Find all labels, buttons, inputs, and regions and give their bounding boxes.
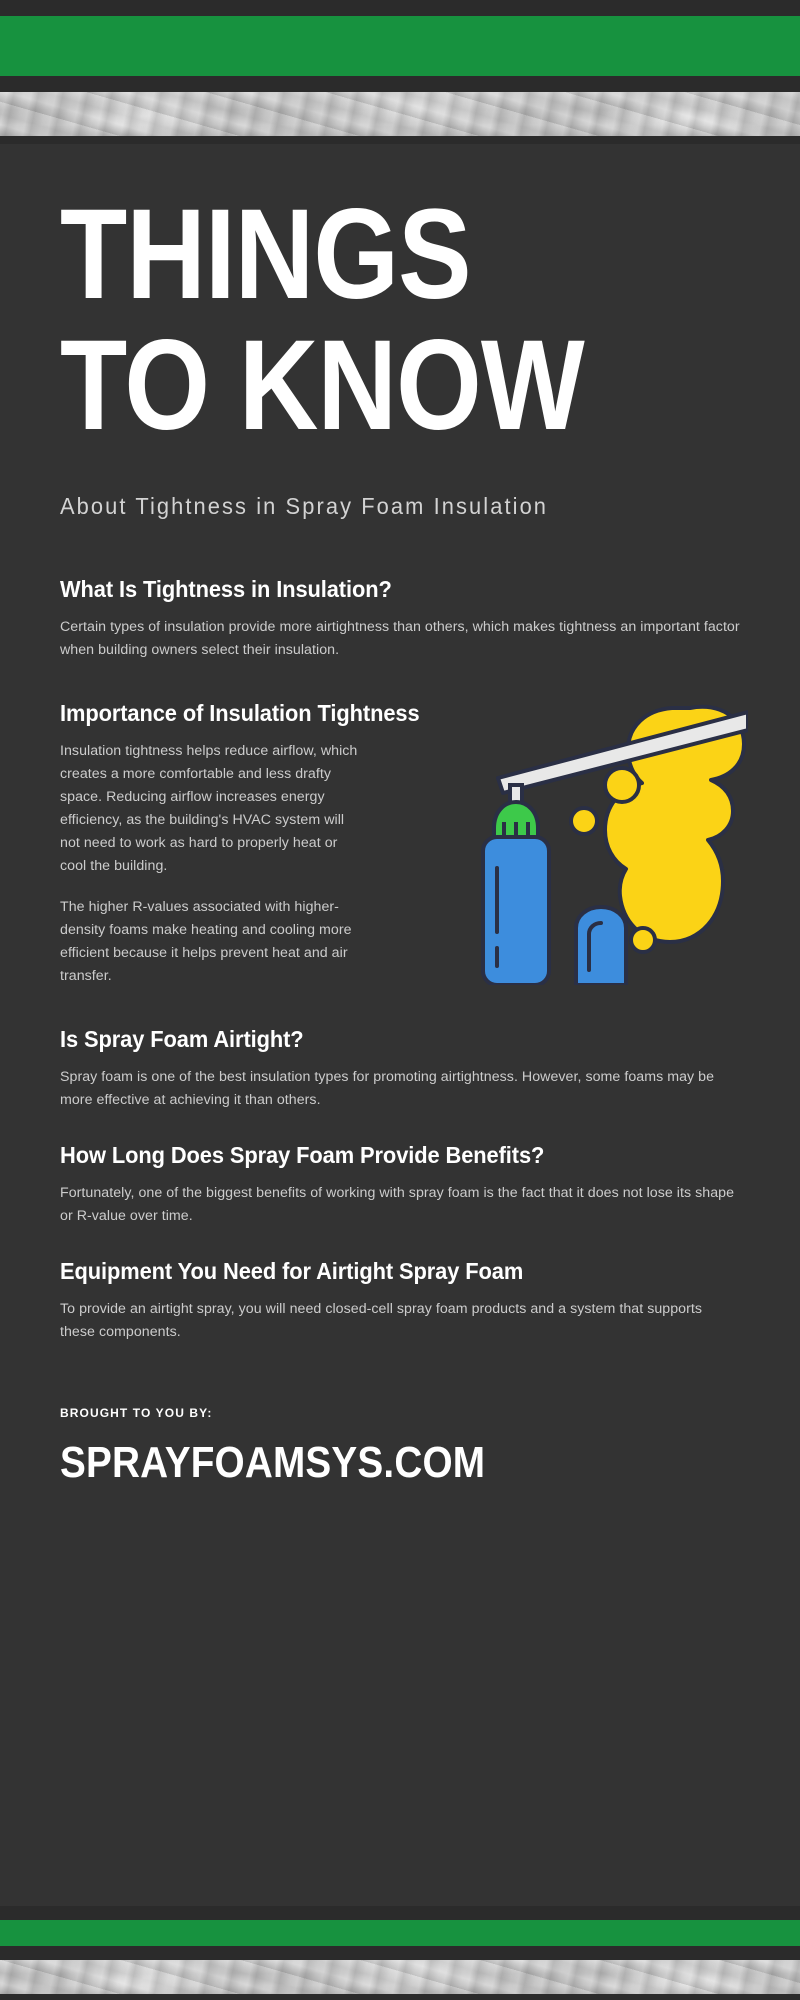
top-dark-strip-1 bbox=[0, 0, 800, 16]
foam-large-blob bbox=[605, 707, 744, 942]
section-how-long-benefits: How Long Does Spray Foam Provide Benefit… bbox=[60, 1142, 740, 1228]
bottom-green-bar bbox=[0, 1920, 800, 1946]
section-heading: Equipment You Need for Airtight Spray Fo… bbox=[60, 1258, 692, 1285]
cap-body bbox=[494, 802, 538, 838]
bottom-dark-strip-3 bbox=[0, 1994, 800, 2000]
section-heading: Is Spray Foam Airtight? bbox=[60, 1026, 692, 1053]
foam-droplet-small bbox=[631, 928, 655, 952]
top-marble-texture-band bbox=[0, 92, 800, 136]
hero: THINGS TO KNOW About Tightness in Spray … bbox=[0, 144, 800, 520]
tank-body bbox=[576, 907, 626, 985]
section-heading: How Long Does Spray Foam Provide Benefit… bbox=[60, 1142, 692, 1169]
section-paragraph: Spray foam is one of the best insulation… bbox=[60, 1066, 740, 1112]
cap-tooth bbox=[502, 822, 506, 838]
section-paragraph: Fortunately, one of the biggest benefits… bbox=[60, 1182, 740, 1228]
foam-droplet-medium bbox=[571, 808, 597, 834]
spacer bbox=[60, 1228, 740, 1258]
page-subtitle: About Tightness in Spray Foam Insulation bbox=[60, 493, 706, 520]
spacer bbox=[60, 988, 740, 1026]
brought-to-you-by-label: BROUGHT TO YOU BY: bbox=[60, 1406, 740, 1420]
top-dark-strip-3 bbox=[0, 136, 800, 144]
wand-neck bbox=[510, 785, 522, 811]
section-paragraph: Insulation tightness helps reduce airflo… bbox=[60, 740, 360, 878]
footer-decoration bbox=[0, 1906, 800, 2000]
bottom-dark-strip-1 bbox=[0, 1906, 800, 1920]
section-what-is-tightness: What Is Tightness in Insulation? Certain… bbox=[60, 576, 740, 662]
page-title-line-1: THINGS bbox=[60, 192, 645, 317]
content-area: What Is Tightness in Insulation? Certain… bbox=[0, 576, 800, 1344]
section-paragraph: The higher R-values associated with high… bbox=[60, 896, 360, 988]
header-decoration bbox=[0, 0, 800, 144]
spray-can-body bbox=[483, 837, 549, 985]
footer-branding: BROUGHT TO YOU BY: SPRAYFOAMSYS.COM bbox=[0, 1406, 800, 1488]
cap-tooth bbox=[526, 822, 530, 838]
section-heading: What Is Tightness in Insulation? bbox=[60, 576, 692, 603]
section-paragraph: To provide an airtight spray, you will n… bbox=[60, 1298, 740, 1344]
top-green-bar bbox=[0, 16, 800, 76]
infographic-page: THINGS TO KNOW About Tightness in Spray … bbox=[0, 0, 800, 2000]
cap-tooth bbox=[514, 822, 518, 838]
bottom-dark-strip-2 bbox=[0, 1946, 800, 1960]
can-cap bbox=[494, 802, 538, 838]
section-heading: Importance of Insulation Tightness bbox=[60, 700, 692, 727]
brand-domain: SPRAYFOAMSYS.COM bbox=[60, 1438, 658, 1488]
foam-blob-group bbox=[571, 707, 744, 952]
section-paragraph: Certain types of insulation provide more… bbox=[60, 616, 740, 662]
section-equipment-needed: Equipment You Need for Airtight Spray Fo… bbox=[60, 1258, 740, 1344]
section-text-column: Insulation tightness helps reduce airflo… bbox=[60, 740, 360, 988]
section-importance-of-tightness: Importance of Insulation Tightness Insul… bbox=[60, 700, 740, 988]
can-cylinder bbox=[483, 837, 549, 985]
bottom-marble-texture-band bbox=[0, 1960, 800, 1994]
section-is-spray-foam-airtight: Is Spray Foam Airtight? Spray foam is on… bbox=[60, 1026, 740, 1112]
spacer bbox=[60, 1112, 740, 1142]
secondary-blue-tank bbox=[576, 907, 626, 985]
spacer bbox=[60, 662, 740, 700]
page-title-line-2: TO KNOW bbox=[60, 323, 645, 448]
top-dark-strip-2 bbox=[0, 76, 800, 92]
spray-foam-illustration bbox=[458, 700, 748, 985]
foam-droplet-large bbox=[605, 768, 639, 802]
tank-highlight bbox=[589, 923, 601, 970]
